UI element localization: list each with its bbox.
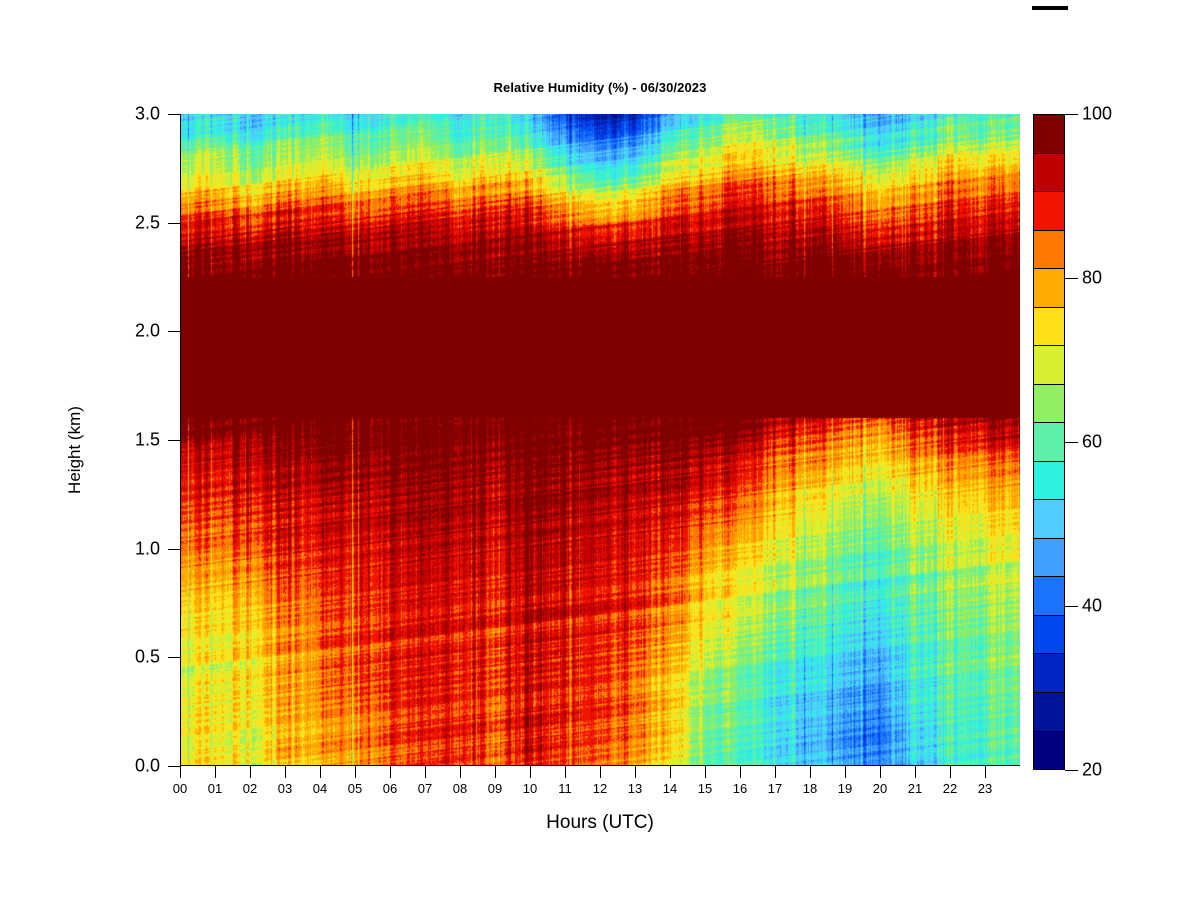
y-axis-tick-label: 2.5 [100,212,160,233]
x-axis-tick [180,766,181,778]
x-axis-tick-label: 04 [300,781,340,796]
heatmap-plot-area[interactable] [180,114,1020,766]
y-axis-tick-label: 0.5 [100,647,160,668]
x-axis-tick-label: 09 [475,781,515,796]
colorbar-tick [1065,114,1078,115]
y-axis-tick [168,766,180,767]
y-axis-tick-label: 2.0 [100,321,160,342]
x-axis-tick [285,766,286,778]
x-axis-tick [600,766,601,778]
colorbar-tick [1065,770,1078,771]
x-axis-tick-label: 02 [230,781,270,796]
colorbar-swatch [1034,385,1064,424]
y-axis-tick [168,549,180,550]
x-axis-tick [670,766,671,778]
colorbar-swatch [1034,115,1064,154]
colorbar-swatch [1034,500,1064,539]
x-axis-tick [495,766,496,778]
colorbar-tick-label: 80 [1082,268,1102,289]
x-axis-tick [250,766,251,778]
x-axis-tick [845,766,846,778]
colorbar-tick [1065,278,1078,279]
x-axis-tick [705,766,706,778]
colorbar-swatch [1034,616,1064,655]
y-axis-tick-label: 0.0 [100,756,160,777]
x-axis-tick [950,766,951,778]
colorbar-swatch [1034,154,1064,193]
colorbar-tick [1065,606,1078,607]
colorbar-swatch [1034,269,1064,308]
x-axis-tick [740,766,741,778]
x-axis-tick-label: 19 [825,781,865,796]
x-axis-tick-label: 23 [965,781,1005,796]
heatmap-canvas[interactable] [180,114,1020,766]
y-axis-tick-label: 1.0 [100,538,160,559]
y-axis-tick [168,223,180,224]
x-axis-tick [215,766,216,778]
x-axis-tick-label: 07 [405,781,445,796]
y-axis-tick [168,657,180,658]
y-axis-tick [168,114,180,115]
x-axis-tick-label: 11 [545,781,585,796]
colorbar-swatch [1034,308,1064,347]
y-axis-tick [168,331,180,332]
colorbar-swatch [1034,423,1064,462]
colorbar-swatch [1034,693,1064,732]
x-axis-tick [775,766,776,778]
x-axis-tick [355,766,356,778]
x-axis-tick-label: 17 [755,781,795,796]
x-axis-tick-label: 16 [720,781,760,796]
y-axis-tick [168,440,180,441]
x-axis-tick-label: 15 [685,781,725,796]
x-axis-tick-label: 14 [650,781,690,796]
x-axis-tick-label: 20 [860,781,900,796]
x-axis-tick-label: 18 [790,781,830,796]
x-axis-tick-label: 06 [370,781,410,796]
colorbar-tick-label: 100 [1082,104,1112,125]
colorbar-swatch [1034,346,1064,385]
x-axis-tick [635,766,636,778]
x-axis-tick [985,766,986,778]
colorbar[interactable] [1033,114,1065,770]
x-axis-tick-label: 10 [510,781,550,796]
x-axis-tick [915,766,916,778]
x-axis-tick-label: 12 [580,781,620,796]
x-axis-tick-label: 00 [160,781,200,796]
figure-canvas: Relative Humidity (%) - 06/30/2023 0.00.… [0,0,1200,900]
colorbar-tick-label: 60 [1082,432,1102,453]
x-axis-tick-label: 08 [440,781,480,796]
x-axis-tick [880,766,881,778]
y-axis-tick-label: 1.5 [100,430,160,451]
colorbar-swatch [1034,577,1064,616]
page-title: Relative Humidity (%) - 06/30/2023 [180,80,1020,95]
x-axis-tick [810,766,811,778]
x-axis-tick [425,766,426,778]
x-axis-tick [320,766,321,778]
x-axis-tick [530,766,531,778]
colorbar-swatch [1034,539,1064,578]
x-axis-tick-label: 05 [335,781,375,796]
y-axis-title: Height (km) [65,370,85,530]
x-axis-tick [460,766,461,778]
colorbar-swatch [1034,231,1064,270]
x-axis-tick-label: 03 [265,781,305,796]
top-edge-artifact [1032,6,1068,10]
x-axis-tick-label: 13 [615,781,655,796]
colorbar-tick-label: 20 [1082,760,1102,781]
colorbar-tick-label: 40 [1082,596,1102,617]
colorbar-tick [1065,442,1078,443]
colorbar-swatch [1034,732,1064,770]
colorbar-swatch [1034,192,1064,231]
x-axis-tick-label: 22 [930,781,970,796]
colorbar-swatch [1034,462,1064,501]
x-axis-tick [565,766,566,778]
y-axis-tick-label: 3.0 [100,104,160,125]
x-axis-tick-label: 21 [895,781,935,796]
x-axis-tick-label: 01 [195,781,235,796]
x-axis-tick [390,766,391,778]
colorbar-swatch [1034,654,1064,693]
x-axis-title: Hours (UTC) [180,812,1020,834]
